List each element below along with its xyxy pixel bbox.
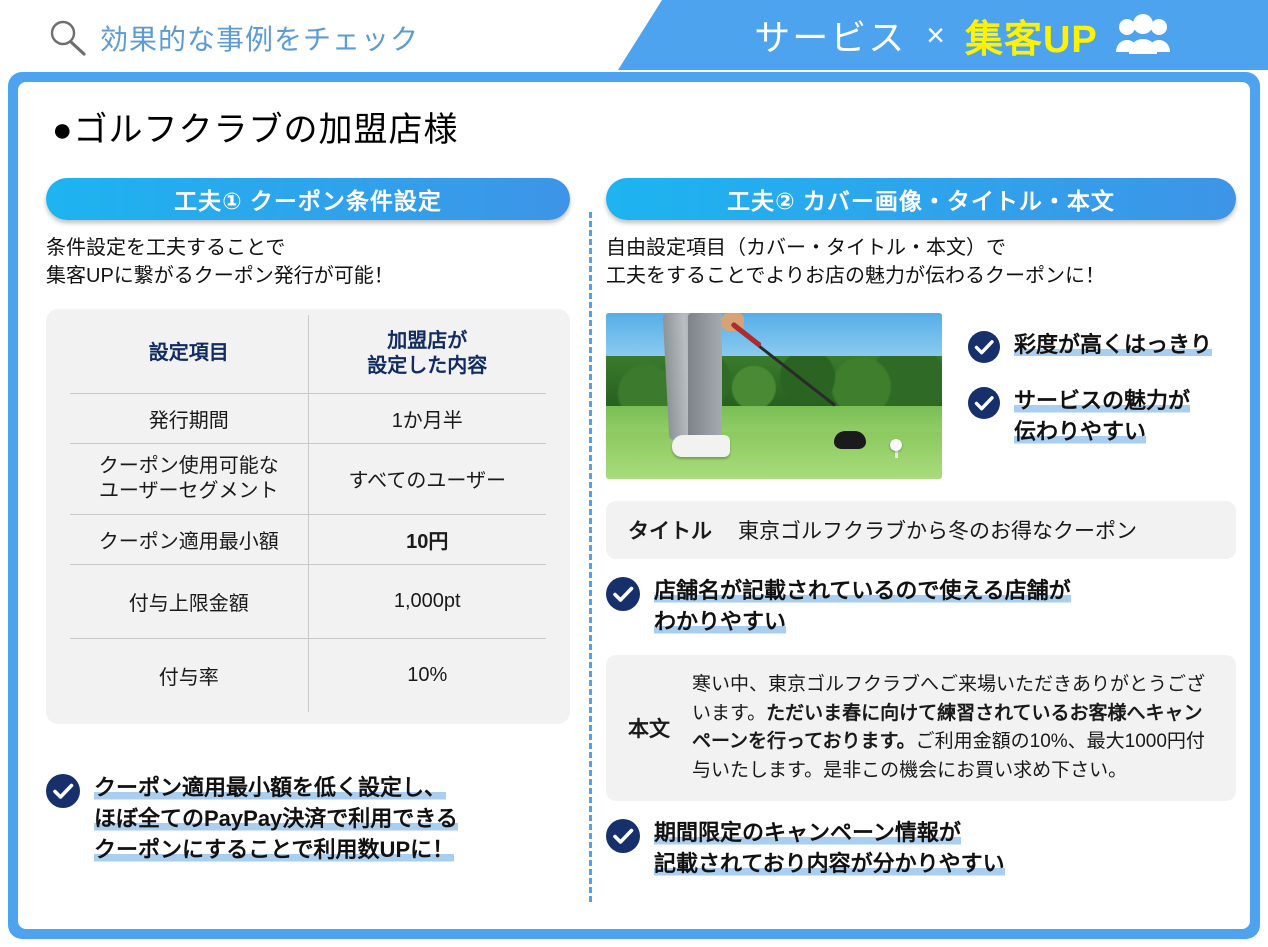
golf-cover-photo xyxy=(606,313,942,479)
title-strip-value: 東京ゴルフクラブから冬のお得なクーポン xyxy=(738,515,1137,545)
table-cell-item: クーポン使用可能な ユーザーセグメント xyxy=(70,443,308,514)
right-column: 工夫② カバー画像・タイトル・本文 自由設定項目（カバー・タイトル・本文）で 工… xyxy=(606,178,1236,880)
body-box: 本文 寒い中、東京ゴルフクラブへご来場いただきありがとうございます。ただいま春に… xyxy=(606,655,1236,801)
spec-table-card: 設定項目 加盟店が 設定した内容 発行期間 1か月半 xyxy=(46,309,570,724)
cover-photo-row: 彩度が高くはっきり サービスの魅力が xyxy=(606,313,1236,479)
body-bullet-line2: 記載されており内容が分かりやすい xyxy=(654,851,1005,876)
content-frame: ●ゴルフクラブの加盟店様 工夫① クーポン条件設定 条件設定を工夫することで 集… xyxy=(8,72,1260,939)
left-bullet-line2: ほぼ全てのPayPay決済で利用できる xyxy=(94,806,458,831)
photo-golf-shoe xyxy=(672,435,730,457)
left-column: 工夫① クーポン条件設定 条件設定を工夫することで 集客UPに繋がるクーポン発行… xyxy=(46,178,570,724)
banner-accent-label: 集客UP xyxy=(965,8,1098,63)
photo-golf-ball xyxy=(890,439,902,451)
column-divider xyxy=(589,212,592,902)
left-bullet: クーポン適用最小額を低く設定し、 ほぼ全てのPayPay決済で利用できる クーポ… xyxy=(46,772,586,866)
table-cell-item: 付与上限金額 xyxy=(70,564,308,638)
photo-club-head xyxy=(834,431,866,449)
check-circle-icon xyxy=(968,331,1000,363)
content-panel: ●ゴルフクラブの加盟店様 工夫① クーポン条件設定 条件設定を工夫することで 集… xyxy=(18,82,1250,929)
check-circle-icon xyxy=(606,819,640,853)
page-title: ●ゴルフクラブの加盟店様 xyxy=(52,102,459,151)
title-strip: タイトル 東京ゴルフクラブから冬のお得なクーポン xyxy=(606,501,1236,559)
table-header-value-line2: 設定した内容 xyxy=(313,354,543,379)
title-strip-label: タイトル xyxy=(628,515,712,545)
left-bullet-line3: クーポンにすることで利用数UPに！ xyxy=(94,837,454,862)
page-header: 効果的な事例をチェック サービス × 集客UP xyxy=(0,0,1268,76)
section-header-1-label: 工夫① クーポン条件設定 xyxy=(174,182,442,216)
section-header-1: 工夫① クーポン条件設定 xyxy=(46,178,570,220)
body-bullet: 期間限定のキャンペーン情報が 記載されており内容が分かりやすい xyxy=(606,817,1236,879)
photo-bullet-list: 彩度が高くはっきり サービスの魅力が xyxy=(968,313,1212,447)
left-lead-line2: 集客UPに繋がるクーポン発行が可能！ xyxy=(46,262,570,290)
title-bullet-line2: わかりやすい xyxy=(654,609,786,634)
table-cell-item: 付与率 xyxy=(70,638,308,712)
table-cell-value: 1,000pt xyxy=(308,564,546,638)
table-cell-value: 10% xyxy=(308,638,546,712)
banner-service-label: サービス xyxy=(754,9,906,61)
photo-bullet-2-line2: 伝わりやすい xyxy=(1014,419,1146,444)
check-circle-icon xyxy=(606,577,640,611)
table-row: 付与率 10% xyxy=(70,638,546,712)
check-circle-icon xyxy=(968,387,1000,419)
table-row: クーポン適用最小額 10円 xyxy=(70,514,546,564)
table-cell-item: 発行期間 xyxy=(70,393,308,443)
title-bullet-line1: 店舗名が記載されているので使える店舗が xyxy=(654,578,1071,603)
photo-golfer-leg-front xyxy=(688,313,722,443)
right-lead-line1: 自由設定項目（カバー・タイトル・本文）で xyxy=(606,234,1236,262)
table-header-value: 加盟店が 設定した内容 xyxy=(308,315,546,394)
table-header-row: 設定項目 加盟店が 設定した内容 xyxy=(70,315,546,394)
table-row: クーポン使用可能な ユーザーセグメント すべてのユーザー xyxy=(70,443,546,514)
body-bullet-line1: 期間限定のキャンペーン情報が xyxy=(654,820,961,845)
table-cell-item-line2: ユーザーセグメント xyxy=(74,479,304,504)
body-box-text: 寒い中、東京ゴルフクラブへご来場いただきありがとうございます。ただいま春に向けて… xyxy=(692,671,1214,785)
left-lead-line1: 条件設定を工夫することで xyxy=(46,234,570,262)
table-row: 発行期間 1か月半 xyxy=(70,393,546,443)
banner-times-symbol: × xyxy=(926,17,945,54)
title-bullet: 店舗名が記載されているので使える店舗が わかりやすい xyxy=(606,575,1236,637)
photo-bullet-2-text: サービスの魅力が 伝わりやすい xyxy=(1014,385,1190,447)
spec-table: 設定項目 加盟店が 設定した内容 発行期間 1か月半 xyxy=(70,315,546,712)
header-banner-content: サービス × 集客UP xyxy=(618,0,1268,70)
photo-trees xyxy=(606,356,942,409)
body-box-label: 本文 xyxy=(628,713,670,743)
photo-bullet-2-line1: サービスの魅力が xyxy=(1014,388,1190,413)
table-cell-value: すべてのユーザー xyxy=(308,443,546,514)
photo-bullet-2: サービスの魅力が 伝わりやすい xyxy=(968,385,1212,447)
table-cell-value: 10円 xyxy=(308,514,546,564)
table-header-value-line1: 加盟店が xyxy=(313,329,543,354)
slide-root: 効果的な事例をチェック サービス × 集客UP ●ゴルフクラブの加盟店様 xyxy=(0,0,1268,947)
table-row: 付与上限金額 1,000pt xyxy=(70,564,546,638)
body-bullet-text: 期間限定のキャンペーン情報が 記載されており内容が分かりやすい xyxy=(654,817,1005,879)
right-lead-text: 自由設定項目（カバー・タイトル・本文）で 工夫をすることでよりお店の魅力が伝わる… xyxy=(606,234,1236,291)
left-bullet-line1: クーポン適用最小額を低く設定し、 xyxy=(94,775,446,800)
table-header-item: 設定項目 xyxy=(70,315,308,394)
table-cell-value: 1か月半 xyxy=(308,393,546,443)
left-lead-text: 条件設定を工夫することで 集客UPに繋がるクーポン発行が可能！ xyxy=(46,234,570,291)
table-cell-item-line1: クーポン使用可能な xyxy=(74,454,304,479)
left-bullet-text: クーポン適用最小額を低く設定し、 ほぼ全てのPayPay決済で利用できる クーポ… xyxy=(94,772,458,866)
people-group-icon xyxy=(1114,14,1172,56)
title-bullet-text: 店舗名が記載されているので使える店舗が わかりやすい xyxy=(654,575,1071,637)
search-icon xyxy=(46,18,90,58)
photo-golf-tee xyxy=(895,450,898,458)
section-header-2-label: 工夫② カバー画像・タイトル・本文 xyxy=(727,182,1115,216)
photo-fairway xyxy=(606,406,942,436)
search-label: 効果的な事例をチェック xyxy=(100,18,419,58)
table-cell-item: クーポン適用最小額 xyxy=(70,514,308,564)
photo-bullet-1-text: 彩度が高くはっきり xyxy=(1014,329,1212,360)
section-header-2: 工夫② カバー画像・タイトル・本文 xyxy=(606,178,1236,220)
photo-bullet-1-line1: 彩度が高くはっきり xyxy=(1014,332,1212,357)
photo-bullet-1: 彩度が高くはっきり xyxy=(968,329,1212,363)
check-circle-icon xyxy=(46,774,80,808)
right-lead-line2: 工夫をすることでよりお店の魅力が伝わるクーポンに！ xyxy=(606,262,1236,290)
